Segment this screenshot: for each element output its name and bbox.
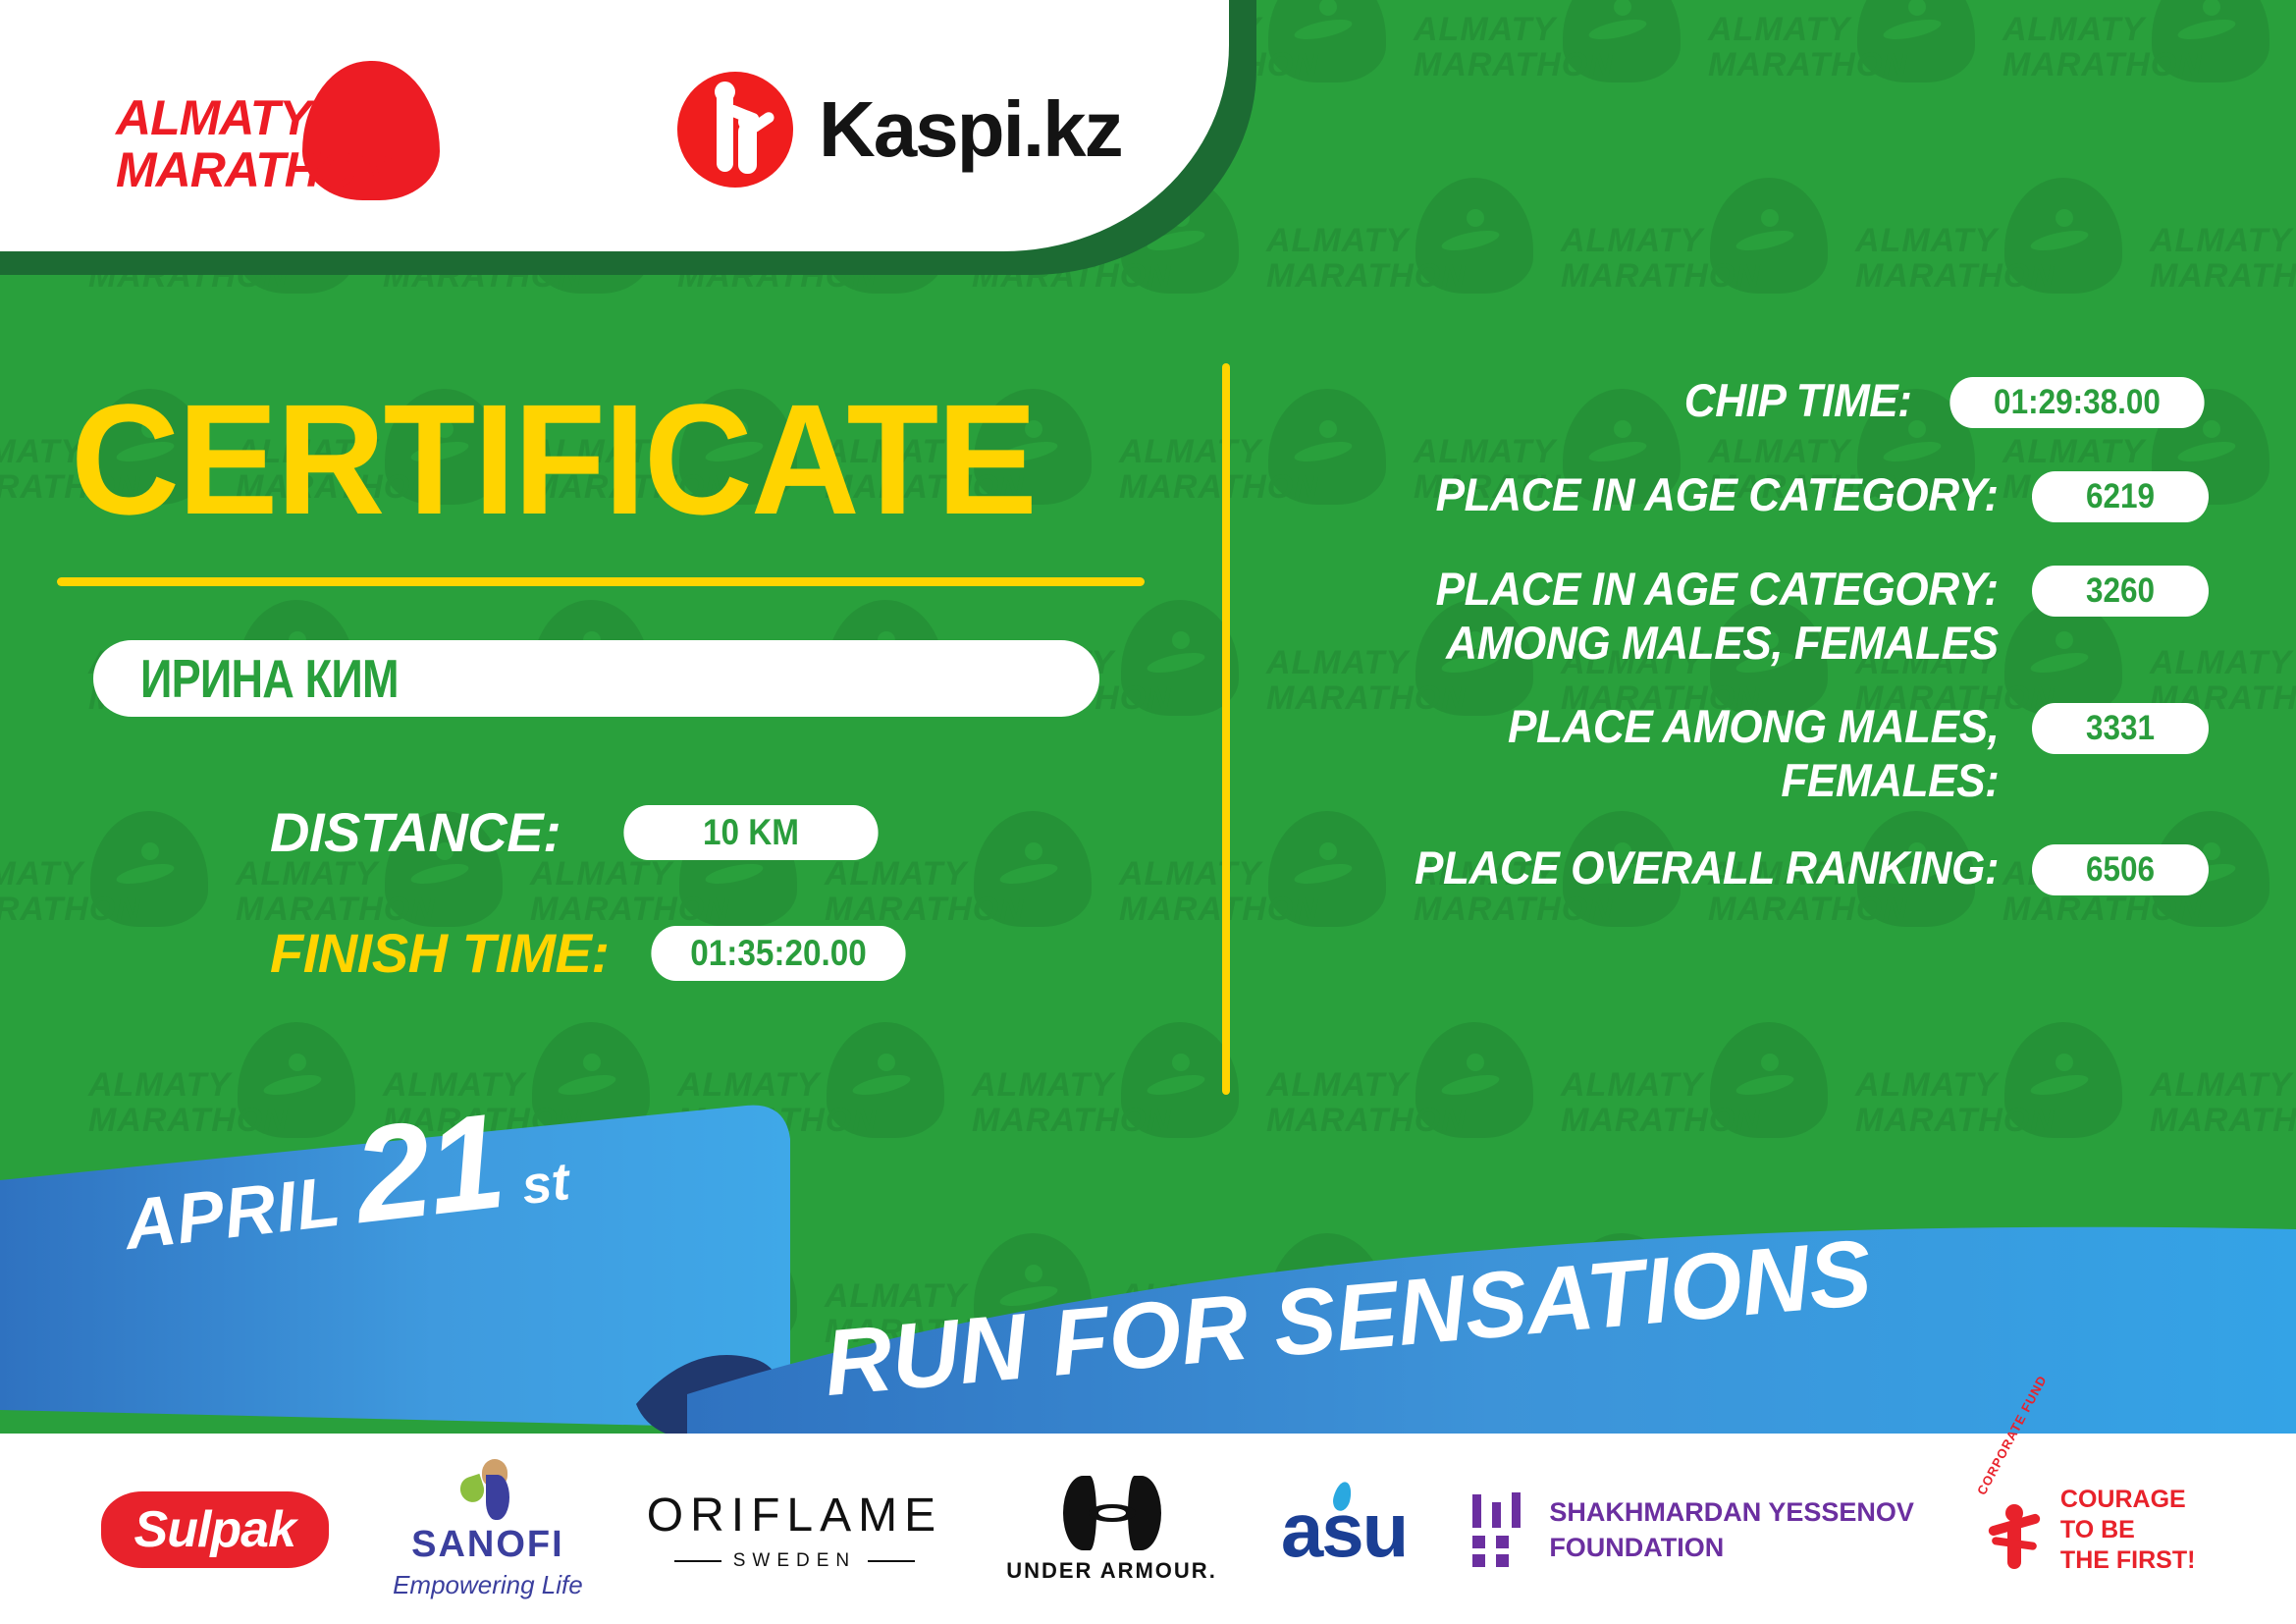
oriflame-wordmark: ORIFLAME	[647, 1489, 942, 1543]
place-age-category-gender-value: 3260	[2032, 566, 2209, 617]
asu-wordmark: asu	[1281, 1486, 1407, 1575]
distance-value: 10 KM	[624, 805, 879, 860]
place-overall-value: 6506	[2032, 844, 2209, 895]
place-age-category-gender-label: PLACE IN AGE CATEGORY: AMONG MALES, FEMA…	[1436, 562, 1999, 670]
watermark-text: ALMATY MARATHON	[530, 856, 756, 927]
finish-time-value: 01:35:20.00	[651, 926, 905, 981]
chip-time-value: 01:29:38.00	[1949, 377, 2204, 428]
under-armour-icon	[1063, 1476, 1161, 1550]
watermark-tile: ALMATY MARATHON	[1855, 172, 2150, 383]
distance-row: DISTANCE: 10 KM	[270, 800, 892, 864]
place-age-category-label: PLACE IN AGE CATEGORY:	[1436, 467, 1999, 521]
kaspi-adult-body-icon	[717, 89, 733, 172]
title-underline	[57, 577, 1145, 586]
watermark-text: ALMATY MARATHON	[825, 856, 1050, 927]
watermark-text: ALMATY MARATHON	[1266, 223, 1492, 294]
oriflame-tagline: SWEDEN	[733, 1550, 856, 1572]
yessenov-name-line2: FOUNDATION	[1549, 1530, 1914, 1565]
yessenov-wordmark: SHAKHMARDAN YESSENOV FOUNDATION	[1549, 1494, 1914, 1565]
stat-row: PLACE IN AGE CATEGORY: AMONG MALES, FEMA…	[1276, 562, 2218, 670]
yessenov-icon	[1470, 1492, 1527, 1567]
watermark-text: ALMATY MARATHON	[236, 856, 461, 927]
oriflame-tagline-row: SWEDEN	[674, 1550, 915, 1572]
stat-row: PLACE OVERALL RANKING: 6506	[1276, 840, 2218, 895]
almaty-marathon-wordmark: ALMATY MARATHON	[116, 92, 302, 196]
sanofi-wordmark: SANOFI	[411, 1524, 564, 1566]
oriflame-rule-right	[868, 1560, 915, 1562]
finish-time-label: FINISH TIME:	[270, 921, 610, 985]
watermark-text: ALMATY MARATHON	[1414, 12, 1639, 82]
watermark-text: ALMATY MARATHON	[2002, 12, 2228, 82]
courage-wordmark: COURAGETO BETHE FIRST!	[2060, 1485, 2196, 1576]
chip-time-label: CHIP TIME:	[1684, 373, 1912, 427]
watermark-tile: ALMATY MARATHON	[1708, 0, 2002, 172]
kaspi-wordmark: Kaspi.kz	[819, 84, 1122, 175]
sponsor-courage: CORPORATE FUND COURAGETO BETHE FIRST!	[1978, 1485, 2196, 1576]
distance-label: DISTANCE:	[270, 800, 561, 864]
sponsor-asu: asu	[1281, 1486, 1407, 1575]
kaspi-circle-icon	[677, 72, 793, 188]
watermark-tile: ALMATY MARATHON	[0, 805, 236, 1016]
place-among-gender-value: 3331	[2032, 703, 2209, 754]
place-age-category-value: 6219	[2032, 471, 2209, 522]
certificate-page: ALMATY MARATHONALMATY MARATHONALMATY MAR…	[0, 0, 2296, 1624]
sponsor-bar: Sulpak SANOFI Empowering Life ORIFLAME S…	[0, 1435, 2296, 1624]
sponsor-under-armour: UNDER ARMOUR.	[1006, 1476, 1217, 1584]
sponsor-oriflame: ORIFLAME SWEDEN	[647, 1489, 942, 1572]
almaty-marathon-line1: ALMATY	[116, 92, 302, 144]
watermark-tile: ALMATY MARATHON	[1561, 172, 1855, 383]
sponsor-yessenov: SHAKHMARDAN YESSENOV FOUNDATION	[1470, 1492, 1914, 1567]
place-overall-label: PLACE OVERALL RANKING:	[1415, 840, 1999, 894]
page-title: CERTIFICATE	[71, 381, 1097, 538]
oriflame-rule-left	[674, 1560, 721, 1562]
yessenov-name-line1: SHAKHMARDAN YESSENOV	[1549, 1494, 1914, 1530]
stat-row: CHIP TIME: 01:29:38.00	[1276, 373, 2218, 428]
athlete-name: ИРИНА КИМ	[140, 652, 399, 706]
watermark-tile: ALMATY MARATHON	[1266, 172, 1561, 383]
watermark-text: ALMATY MARATHON	[1708, 12, 1934, 82]
event-day: 21	[348, 1102, 507, 1235]
watermark-text: ALMATY MARATHON	[0, 856, 167, 927]
watermark-text: ALMATY MARATHON	[2150, 223, 2296, 294]
stats-panel: CHIP TIME: 01:29:38.00 PLACE IN AGE CATE…	[1276, 373, 2218, 935]
finish-time-row: FINISH TIME: 01:35:20.00	[270, 921, 920, 985]
watermark-tile: ALMATY MARATHON	[1414, 0, 1708, 172]
sponsor-sulpak: Sulpak	[101, 1491, 330, 1568]
under-armour-wordmark: UNDER ARMOUR.	[1006, 1558, 1217, 1584]
place-among-gender-label: PLACE AMONG MALES, FEMALES:	[1508, 699, 1999, 807]
stat-row: PLACE IN AGE CATEGORY: 6219	[1276, 467, 2218, 522]
almaty-marathon-logo: ALMATY MARATHON	[116, 61, 450, 198]
watermark-text: ALMATY MARATHON	[1561, 223, 1787, 294]
courage-icon: CORPORATE FUND	[1978, 1485, 2051, 1575]
sulpak-wordmark: Sulpak	[101, 1491, 330, 1568]
sanofi-tagline: Empowering Life	[393, 1570, 583, 1600]
almaty-marathon-line2: MARATHON	[116, 144, 302, 196]
watermark-tile: ALMATY MARATHON	[2150, 172, 2296, 383]
vertical-divider	[1222, 363, 1230, 1095]
kaspi-logo: Kaspi.kz	[677, 71, 1122, 189]
watermark-tile: ALMATY MARATHON	[2002, 0, 2296, 172]
sanofi-icon	[453, 1459, 523, 1520]
event-day-suffix: st	[518, 1151, 572, 1217]
sponsor-sanofi: SANOFI Empowering Life	[393, 1459, 583, 1600]
athlete-name-field: ИРИНА КИМ	[93, 640, 1099, 717]
stat-row: PLACE AMONG MALES, FEMALES: 3331	[1276, 699, 2218, 807]
watermark-text: ALMATY MARATHON	[1855, 223, 2081, 294]
